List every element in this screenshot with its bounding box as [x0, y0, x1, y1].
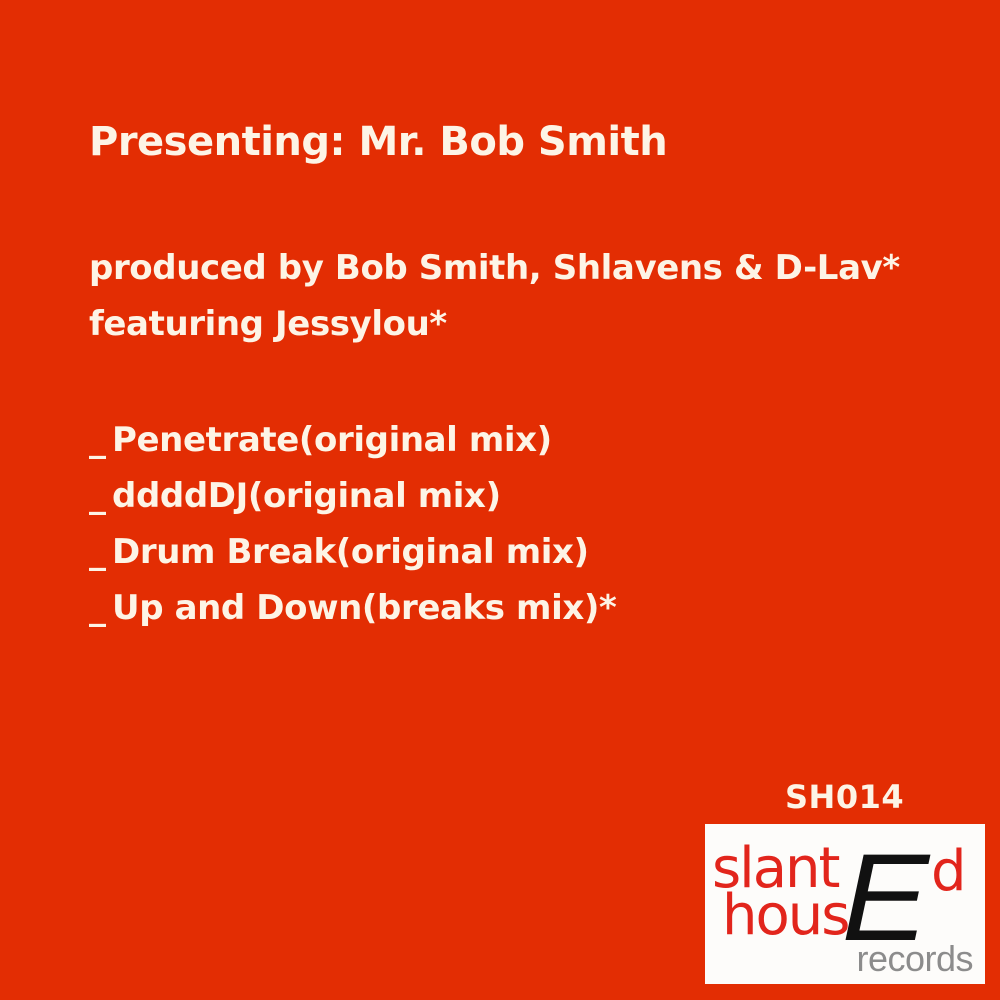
track-prefix-underscore: _ — [89, 524, 112, 580]
credits-line-produced-by: produced by Bob Smith, Shlavens & D-Lav* — [89, 240, 900, 296]
track-title: ddddDJ — [112, 476, 248, 516]
track-title: Up and Down — [112, 588, 362, 628]
track-mix-label: (original mix) — [336, 532, 589, 572]
track-row: _Up and Down(breaks mix)* — [89, 580, 616, 636]
track-mix-label: (original mix) — [299, 420, 552, 460]
track-title: Penetrate — [112, 420, 299, 460]
credits-block: produced by Bob Smith, Shlavens & D-Lav*… — [89, 240, 900, 352]
track-row: _ddddDJ(original mix) — [89, 468, 616, 524]
logo-text-d: d — [931, 844, 967, 900]
credits-line-featuring: featuring Jessylou* — [89, 296, 900, 352]
track-row: _Drum Break(original mix) — [89, 524, 616, 580]
logo-tagline-records: records — [856, 941, 973, 977]
release-headline: Presenting: Mr. Bob Smith — [89, 122, 667, 162]
track-prefix-underscore: _ — [89, 468, 112, 524]
tracklist: _Penetrate(original mix) _ddddDJ(origina… — [89, 412, 616, 636]
catalogue-number: SH014 — [785, 778, 904, 816]
track-title: Drum Break — [112, 532, 336, 572]
logo-inner: slant hous E d records — [705, 824, 985, 984]
track-mix-label: (original mix) — [248, 476, 501, 516]
logo-text-hous: hous — [722, 888, 848, 944]
track-prefix-underscore: _ — [89, 580, 112, 636]
record-label-logo: slant hous E d records — [705, 824, 985, 984]
track-prefix-underscore: _ — [89, 412, 112, 468]
track-mix-label: (breaks mix)* — [362, 588, 616, 628]
album-cover-artwork: Presenting: Mr. Bob Smith produced by Bo… — [0, 0, 1000, 1000]
track-row: _Penetrate(original mix) — [89, 412, 616, 468]
